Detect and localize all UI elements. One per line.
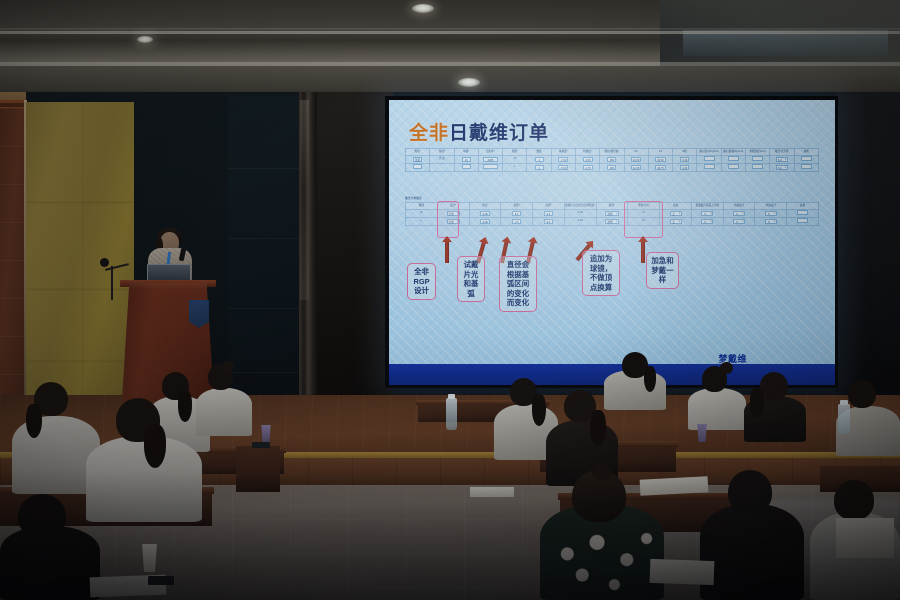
table-input-field[interactable] (413, 164, 422, 169)
conference-hall-photo: 全非日戴维订单 姓名*性别*年龄*出生年*眼别数量球镜度*柱镜度*轴位/散光轴*… (0, 0, 900, 600)
table-column-header: 眼别 (406, 203, 438, 210)
table-input-field[interactable] (483, 164, 498, 169)
projection-screen: 全非日戴维订单 姓名*性别*年龄*出生年*眼别数量球镜度*柱镜度*轴位/散光轴*… (389, 100, 835, 385)
table-input-field[interactable]: 43.50 (655, 157, 666, 162)
callout-line: 加急和 (649, 256, 676, 266)
callout-line: 球镜， (585, 264, 617, 274)
table-text: 1.00 (578, 219, 583, 222)
table-text: -1.00 (577, 211, 583, 214)
audience-hair (590, 410, 606, 446)
table-input-field[interactable]: -5.00 (558, 165, 568, 170)
ceiling (0, 0, 900, 96)
downlight-icon (412, 4, 434, 13)
table-cell-base_curve: 7.5 (501, 218, 533, 226)
table-column-header: K1 (624, 149, 648, 156)
table-cell-other (787, 210, 819, 218)
audience-hair (644, 366, 656, 392)
table-cell-outer_width: 0 (755, 210, 787, 218)
table-input-field[interactable]: 透明 (605, 211, 618, 216)
table-column-header: 其他 (787, 203, 819, 210)
callout-line: 样 (649, 275, 676, 285)
table-input-field[interactable] (801, 156, 812, 161)
notebook-page (836, 518, 894, 558)
table-cell-cornea_dia (745, 156, 769, 164)
audience-member (86, 398, 202, 522)
table-cell-eye: L (503, 164, 527, 172)
table-input-field[interactable] (752, 164, 763, 169)
callout-line: 梦戴一 (649, 266, 676, 276)
callout-line: 不做顶 (585, 273, 617, 283)
table-row: 张某男 女132005R1-7.00-1.5018042.0043.500.49… (406, 156, 819, 164)
table-column-header: 轴位/散光轴* (600, 149, 624, 156)
table-cell-qty: 1 (527, 164, 551, 172)
arrow-to-design (445, 241, 449, 263)
table-text: L (421, 219, 422, 222)
table-cell-vertex: 1.00 (564, 218, 596, 226)
slide-table-patient-params: 姓名*性别*年龄*出生年*眼别数量球镜度*柱镜度*轴位/散光轴*K1K2E值偏心… (405, 148, 819, 172)
smartphone (252, 442, 270, 448)
table-cell-eye: L (406, 218, 438, 226)
table-input-field[interactable] (797, 218, 808, 223)
table-input-field[interactable] (462, 164, 471, 169)
table-column-header: 基弧* (501, 203, 533, 210)
table-column-header: 直径* (533, 203, 565, 210)
table-input-field[interactable] (704, 164, 715, 169)
table-cell-diameter: 9.0 (533, 218, 565, 226)
table-cell-addition: 无 (660, 218, 692, 226)
table-input-field[interactable]: 0 (733, 219, 745, 224)
table-input-field[interactable]: -6.00 (480, 211, 490, 216)
table-cell-age: 13 (454, 156, 478, 164)
back-wall-dark-section (317, 92, 393, 400)
table-column-header: 偏心量(陡K)(mm) (721, 149, 745, 156)
callout-line: 弧区间 (502, 279, 534, 289)
callout-trial-lens: 试戴片光和基弧 (457, 256, 485, 302)
table-cell-other (787, 218, 819, 226)
callout-line: RGP (410, 277, 433, 287)
table-text: 男 女 (439, 157, 445, 160)
table-cell-e: 0.46 (673, 164, 697, 172)
table-input-field[interactable] (728, 164, 739, 169)
table-column-header: 外边设计 (755, 203, 787, 210)
callout-line: 和基 (460, 279, 482, 289)
audience-head (834, 480, 874, 520)
table-cell-inner_width: 0 (723, 218, 755, 226)
water-bottle (446, 398, 457, 430)
audience-member (700, 470, 804, 600)
slide-title-rest: 日戴维订单 (449, 123, 549, 144)
wall-olive-panel (26, 102, 134, 402)
table-column-header: 球镜度* (551, 149, 575, 156)
table-input-field[interactable]: 7.5 (512, 219, 521, 224)
table-header-row: 姓名*性别*年龄*出生年*眼别数量球镜度*柱镜度*轴位/散光轴*K1K2E值偏心… (406, 149, 819, 156)
audience-hair-bun (592, 464, 612, 480)
table-input-field[interactable]: 无 (670, 211, 682, 216)
table-input-field[interactable]: 180 (607, 157, 616, 162)
table-column-header: 姓名* (406, 149, 430, 156)
table-input-field[interactable]: 2005 (483, 157, 498, 162)
audience-member (744, 372, 806, 442)
table-row: L全非-6.007.59.01.00透明IC无000 (406, 218, 819, 226)
callout-line: 点换算 (585, 283, 617, 293)
notebook-page (650, 559, 715, 585)
callout-diameter: 直径会根据基弧区间的变化而变化 (499, 256, 537, 312)
table-column-header: K2 (648, 149, 672, 156)
table-cell-outer_width: 0 (755, 218, 787, 226)
table-cell-cylinder: -1.75 (575, 164, 599, 172)
table-text: R (420, 211, 422, 214)
table-column-header: 柱镜度* (575, 149, 599, 156)
table-cell-ecc_steep (721, 156, 745, 164)
table-cell-cylinder: -1.50 (575, 156, 599, 164)
table-header-row: 眼别设计*光度*基弧*直径*戴镜片顶点屈光度/测量度*颜色*厚度/中心追加需要戴… (406, 203, 819, 210)
table-input-field[interactable]: 0 (765, 211, 777, 216)
callout-line: 直径会 (502, 260, 534, 270)
table-cell-rise: 0 (691, 218, 723, 226)
arrow-to-addition (641, 241, 645, 263)
table-cell-ecc_flat (697, 156, 721, 164)
callout-line: 而变化 (502, 298, 534, 308)
table-input-field[interactable]: -6.00 (480, 219, 490, 224)
audience-hair-bun (720, 362, 733, 374)
highlight-addition-column (624, 201, 663, 238)
table-input-field[interactable] (704, 156, 715, 161)
table-cell-k2: 43.75 (648, 164, 672, 172)
table-cell-vertex: -1.00 (564, 210, 596, 218)
callout-line: 追加为 (585, 254, 617, 264)
audience-member-foreground (0, 494, 100, 600)
table-cell-optic_zone: 6.2 (770, 156, 794, 164)
table-input-field[interactable]: -7.00 (558, 157, 568, 162)
callout-line: 片光 (460, 270, 482, 280)
table-column-header: 其他 (794, 149, 819, 156)
table-cell-gender (430, 164, 454, 172)
table-cell-birth (478, 164, 502, 172)
audience-hair (144, 424, 166, 468)
table-input-field[interactable]: 1 (535, 165, 544, 170)
section-label-lens-params: 散光片参数表 (405, 196, 422, 200)
slide-table-lens-design: 眼别设计*光度*基弧*直径*戴镜片顶点屈光度/测量度*颜色*厚度/中心追加需要戴… (405, 202, 819, 226)
table-row: L1-5.00-1.7518042.2543.750.466.2 (406, 164, 819, 172)
audience-torso (688, 388, 746, 430)
table-column-header: 数量 (527, 149, 551, 156)
table-cell-diameter: 9.4 (533, 210, 565, 218)
desk-side-panel (236, 446, 280, 492)
microphone-icon (100, 258, 109, 267)
wall-brown-panel (0, 108, 27, 402)
table-cell-k1: 42.25 (624, 164, 648, 172)
back-wall-far-right (836, 92, 900, 392)
table-input-field[interactable]: 0 (701, 219, 713, 224)
table-cell-optic_zone: 6.2 (770, 164, 794, 172)
table-cell-other (794, 164, 819, 172)
table-input-field[interactable]: 6.2 (776, 157, 788, 162)
table-column-header: 追加 (660, 203, 692, 210)
callout-line: 试戴 (460, 260, 482, 270)
table-cell-gender: 男 女 (430, 156, 454, 164)
downlight-icon (458, 78, 480, 87)
table-input-field[interactable]: 0 (765, 219, 777, 224)
audience-head (760, 372, 788, 400)
audience-hair-bun (222, 361, 234, 372)
table-column-header: 眼别 (503, 149, 527, 156)
table-input-field[interactable]: 无 (670, 219, 682, 224)
table-input-field[interactable]: 0 (701, 211, 713, 216)
table-cell-axis: 180 (600, 164, 624, 172)
table-input-field[interactable]: 透明 (605, 219, 618, 224)
table-input-field[interactable]: -1.50 (583, 157, 593, 162)
callout-rush-order: 加急和梦戴一样 (646, 252, 679, 289)
callout-sphere-add: 追加为球镜，不做顶点换算 (582, 250, 620, 296)
table-column-header: 内边设计 (723, 203, 755, 210)
table-cell-cornea_dia (745, 164, 769, 172)
table-input-field[interactable]: 43.75 (655, 165, 666, 170)
audience-member (196, 364, 252, 436)
table-input-field[interactable]: 42.25 (631, 165, 642, 170)
audience-torso (196, 388, 252, 436)
table-input-field[interactable]: 张某 (413, 157, 422, 162)
table-input-field[interactable] (752, 156, 763, 161)
table-column-header: 戴镜片顶点屈光度/测量度* (564, 203, 596, 210)
table-row: R全非-6.008.19.4-1.00透明IC无000 (406, 210, 819, 218)
table-input-field[interactable]: 9.4 (544, 211, 553, 216)
table-cell-name (406, 164, 430, 172)
table-input-field[interactable]: 42.00 (631, 157, 642, 162)
table-cell-power: -6.00 (469, 218, 501, 226)
ceiling-beam (0, 31, 900, 34)
table-input-field[interactable]: 0.49 (680, 157, 689, 162)
slide-title: 全非日戴维订单 (409, 118, 549, 145)
table-cell-ecc_flat (697, 164, 721, 172)
audience-hair (26, 404, 42, 438)
table-column-header: 需要戴片基弧上升值 (691, 203, 723, 210)
smartphone (148, 576, 174, 585)
bottle-cap (448, 394, 455, 399)
table-input-field[interactable]: 9.0 (544, 219, 553, 224)
audience-head (728, 470, 772, 514)
table-cell-eye: R (406, 210, 438, 218)
callout-rgp-design: 全非RGP设计 (407, 263, 436, 300)
callout-line: 弧 (460, 289, 482, 299)
table-input-field[interactable]: 0.46 (680, 165, 689, 170)
bottle-cap (840, 400, 848, 405)
microphone-stand (111, 266, 113, 300)
handout-paper (470, 487, 514, 497)
audience-member (688, 366, 746, 430)
audience-head (848, 380, 876, 408)
table-cell-age (454, 164, 478, 172)
highlight-design-column (437, 201, 459, 238)
table-text: R (514, 157, 516, 160)
table-cell-base_curve: 8.1 (501, 210, 533, 218)
water-bottle (838, 404, 850, 434)
table-input-field[interactable]: 6.2 (776, 165, 788, 170)
table-input-field[interactable]: 180 (607, 165, 616, 170)
slide-title-char-2: 非 (429, 123, 449, 144)
table-cell-other (794, 156, 819, 164)
table-cell-axis: 180 (600, 156, 624, 164)
table-cell-e: 0.49 (673, 156, 697, 164)
table-input-field[interactable] (728, 156, 739, 161)
table-text: L (514, 165, 515, 168)
table-input-field[interactable]: 1 (535, 157, 544, 162)
table-input-field[interactable]: 13 (462, 157, 471, 162)
table-cell-power: -6.00 (469, 210, 501, 218)
table-cell-sphere: -7.00 (551, 156, 575, 164)
table-cell-k1: 42.00 (624, 156, 648, 164)
table-column-header: E值 (673, 149, 697, 156)
slide-title-char-1: 全 (409, 123, 429, 144)
table-column-header: 偏心量(平K)(mm) (697, 149, 721, 156)
table-column-header: 眼压/光学区 (770, 149, 794, 156)
audience-hair (750, 388, 764, 418)
table-cell-addition: 无 (660, 210, 692, 218)
table-input-field[interactable] (797, 210, 808, 215)
callout-line: 全非 (410, 267, 433, 277)
callout-line: 设计 (410, 286, 433, 296)
table-column-header: 光度* (469, 203, 501, 210)
table-input-field[interactable]: 0 (733, 211, 745, 216)
audience-head (18, 494, 66, 538)
table-input-field[interactable]: 8.1 (512, 211, 521, 216)
table-column-header: 出生年* (478, 149, 502, 156)
table-cell-sphere: -5.00 (551, 164, 575, 172)
table-cell-birth: 2005 (478, 156, 502, 164)
table-cell-k2: 43.50 (648, 156, 672, 164)
table-input-field[interactable] (801, 164, 812, 169)
table-column-header: 角膜直径(mm) (745, 149, 769, 156)
table-cell-name: 张某 (406, 156, 430, 164)
audience-hair (532, 394, 546, 426)
callout-line: 根据基 (502, 270, 534, 280)
table-cell-ecc_steep (721, 164, 745, 172)
callout-line: 的变化 (502, 289, 534, 299)
downlight-icon (137, 36, 153, 43)
table-column-header: 性别* (430, 149, 454, 156)
table-cell-rise: 0 (691, 210, 723, 218)
table-input-field[interactable]: -1.75 (583, 165, 593, 170)
pillar-reflection (300, 100, 309, 300)
table-cell-inner_width: 0 (723, 210, 755, 218)
audience-torso (700, 504, 804, 600)
table-cell-qty: 1 (527, 156, 551, 164)
table-column-header: 年龄* (454, 149, 478, 156)
table-cell-eye: R (503, 156, 527, 164)
